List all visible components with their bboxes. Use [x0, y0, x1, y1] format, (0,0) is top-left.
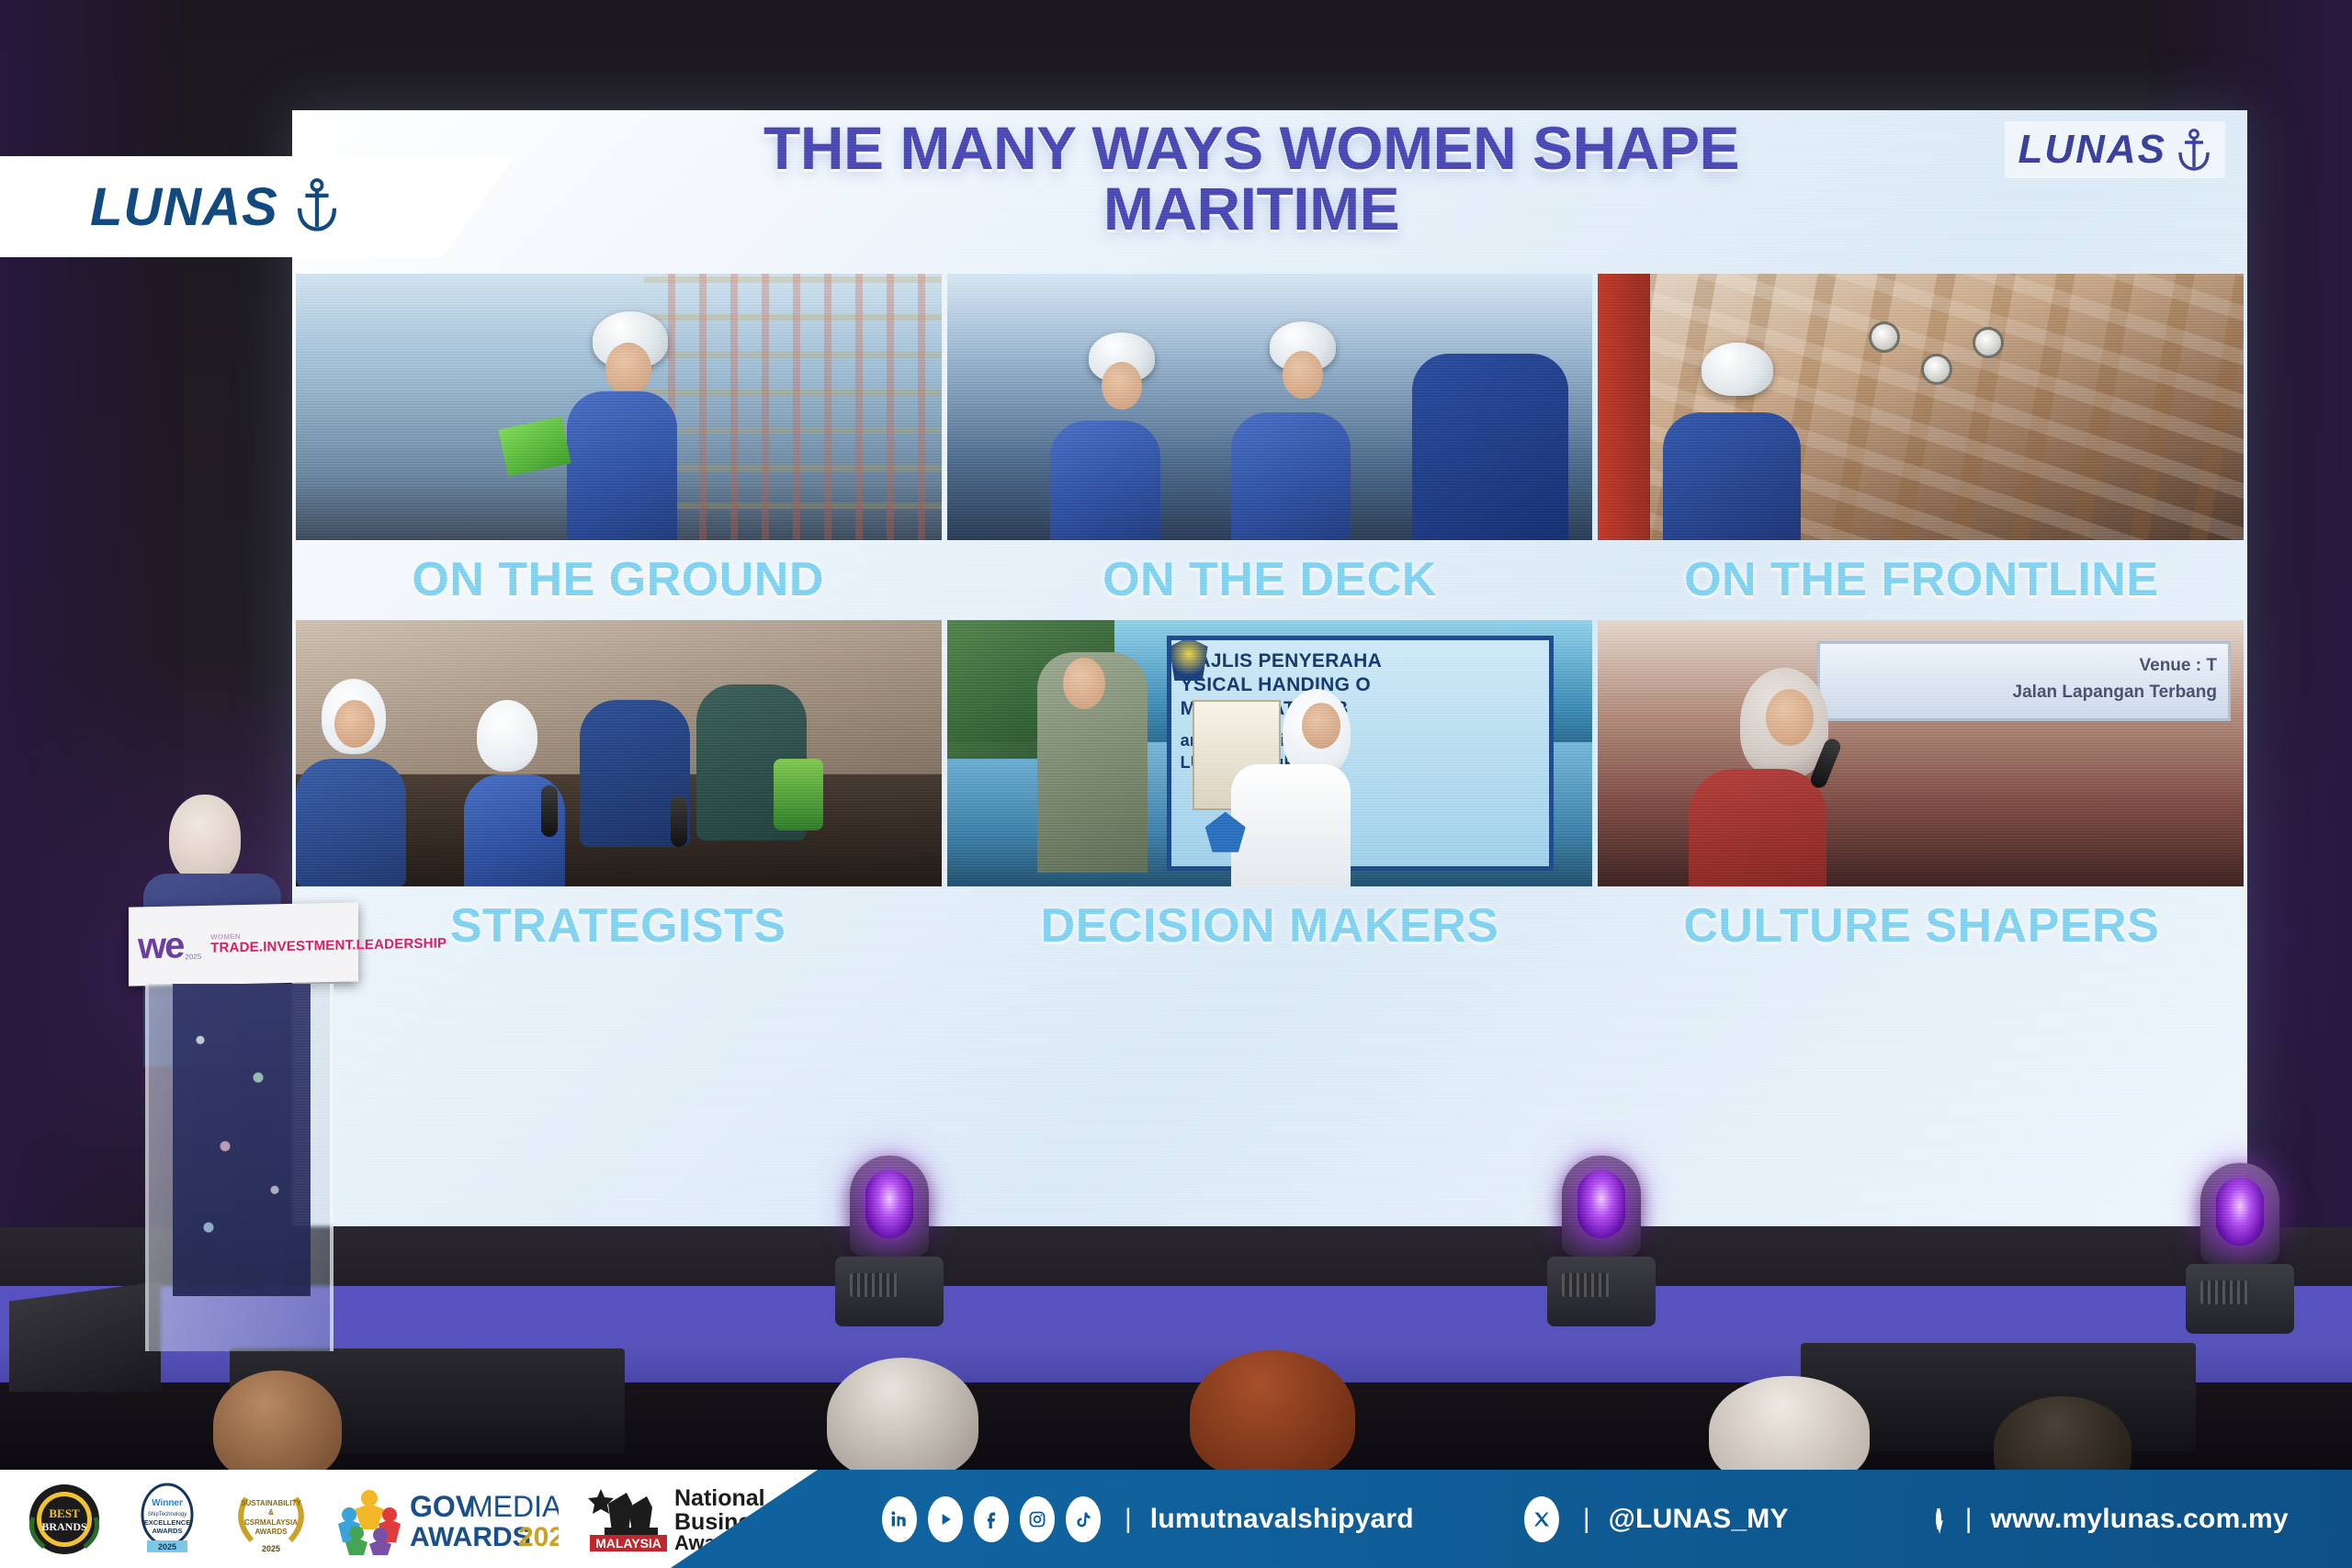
- slide-photo-culture-shapers: Venue : T Jalan Lapangan Terbang: [1598, 620, 2244, 886]
- moving-head-light-1: [850, 1156, 944, 1326]
- social-handle-x[interactable]: @LUNAS_MY: [1609, 1504, 1789, 1535]
- lunas-corner-logo-banner: LUNAS: [0, 156, 514, 257]
- podium-tagline: WOMEN TRADE.INVESTMENT.LEADERSHIP: [210, 929, 447, 956]
- svg-text:AWARDS: AWARDS: [254, 1528, 288, 1536]
- social-strip: | lumutnavalshipyard | @LUNAS_MY: [882, 1470, 2352, 1568]
- slide-title-line1: THE MANY WAYS WOMEN SHAPE: [763, 114, 1739, 182]
- slide-title-line2: MARITIME: [494, 178, 2008, 239]
- award-logo-gov-media-awards: GOV MEDIA AWARDS 2025: [338, 1483, 559, 1555]
- linkedin-icon[interactable]: [882, 1496, 917, 1542]
- audience-head-3: [1190, 1350, 1355, 1479]
- svg-text:&: &: [268, 1508, 274, 1517]
- svg-text:2025: 2025: [518, 1522, 559, 1552]
- led-presentation-screen: THE MANY WAYS WOMEN SHAPE MARITIME LUNAS: [292, 110, 2247, 1226]
- we-logo-text: we: [138, 930, 183, 962]
- slide-caption-row-1: ON THE GROUND ON THE DECK ON THE FRONTLI…: [292, 540, 2247, 619]
- award-badge-best-brands: BEST BRANDS: [26, 1481, 103, 1558]
- anchor-icon: [2176, 129, 2212, 171]
- svg-text:2025: 2025: [158, 1542, 176, 1551]
- venue-line1: Venue : T: [1831, 653, 2217, 680]
- podium-floral-panel: [173, 984, 311, 1296]
- tiktok-icon[interactable]: [1066, 1496, 1101, 1542]
- slide-lunas-wordmark: LUNAS: [2018, 127, 2166, 173]
- svg-text:SUSTAINABILITY: SUSTAINABILITY: [241, 1499, 301, 1507]
- social-separator-x: |: [1583, 1504, 1590, 1535]
- slide-photo-on-the-frontline: [1598, 274, 2244, 540]
- svg-text:CSRMALAYSIA: CSRMALAYSIA: [244, 1518, 298, 1527]
- social-separator-web: |: [1965, 1504, 1973, 1535]
- svg-text:National: National: [674, 1485, 765, 1511]
- youtube-icon[interactable]: [928, 1496, 963, 1542]
- slide-caption-on-the-ground: ON THE GROUND: [292, 552, 944, 607]
- venue-card: Venue : T Jalan Lapangan Terbang: [1817, 641, 2231, 721]
- audience-head-2: [827, 1358, 978, 1479]
- slide-photo-on-the-ground: [296, 274, 942, 540]
- slide-caption-on-the-frontline: ON THE FRONTLINE: [1596, 552, 2247, 607]
- svg-text:BEST: BEST: [49, 1506, 80, 1520]
- slide-header: THE MANY WAYS WOMEN SHAPE MARITIME: [292, 110, 2247, 274]
- slide-photo-row-bottom: MAJLIS PENYERAHA YSICAL HANDING O MBAT B…: [292, 620, 2247, 886]
- slide-photo-strategists: [296, 620, 942, 886]
- slide-photo-row-top: [292, 274, 2247, 540]
- svg-text:GOV: GOV: [410, 1490, 476, 1523]
- bottom-info-bar: BEST BRANDS Winner ShipTechnology EXCELL…: [0, 1470, 2352, 1568]
- svg-text:ShipTechnology: ShipTechnology: [148, 1512, 187, 1517]
- svg-text:2025: 2025: [262, 1544, 280, 1553]
- svg-text:EXCELLENCE: EXCELLENCE: [144, 1518, 190, 1527]
- slide-caption-on-the-deck: ON THE DECK: [944, 552, 1595, 607]
- award-badge-sustainability-csr-malaysia: SUSTAINABILITY & CSRMALAYSIA AWARDS 2025: [232, 1480, 311, 1559]
- ceremony-banner-line2: YSICAL HANDING O: [1181, 673, 1543, 697]
- ceremony-banner-line1: MAJLIS PENYERAHA: [1181, 649, 1543, 673]
- podium-body: [145, 984, 334, 1351]
- social-separator: |: [1125, 1504, 1132, 1535]
- slide-photo-on-the-deck: [947, 274, 1593, 540]
- slide-title: THE MANY WAYS WOMEN SHAPE MARITIME: [292, 118, 2247, 239]
- instagram-icon[interactable]: [1020, 1496, 1055, 1542]
- social-group-main[interactable]: | lumutnavalshipyard: [882, 1496, 1414, 1542]
- podium: we 2025 WOMEN TRADE.INVESTMENT.LEADERSHI…: [129, 905, 358, 1355]
- slide-photo-decision-makers: MAJLIS PENYERAHA YSICAL HANDING O MBAT B…: [947, 620, 1593, 886]
- award-badge-shiptechnology-excellence: Winner ShipTechnology EXCELLENCE AWARDS …: [130, 1480, 204, 1559]
- moving-head-light-2: [1562, 1156, 1656, 1326]
- svg-text:MEDIA: MEDIA: [469, 1490, 559, 1523]
- globe-cursor-icon[interactable]: [1936, 1511, 1941, 1528]
- svg-text:AWARDS: AWARDS: [153, 1527, 183, 1535]
- venue-line2: Jalan Lapangan Terbang: [1831, 680, 2217, 706]
- svg-text:Winner: Winner: [152, 1498, 183, 1508]
- ceremony-crest-icon: [1170, 637, 1208, 681]
- lunas-wordmark: LUNAS: [90, 176, 278, 238]
- facebook-icon[interactable]: [974, 1496, 1009, 1542]
- podium-header-panel: we 2025 WOMEN TRADE.INVESTMENT.LEADERSHI…: [129, 902, 358, 986]
- social-group-x[interactable]: | @LUNAS_MY: [1524, 1496, 1789, 1542]
- x-twitter-icon[interactable]: [1524, 1496, 1559, 1542]
- svg-text:MALAYSIA: MALAYSIA: [595, 1536, 661, 1551]
- website-url[interactable]: www.mylunas.com.my: [1990, 1504, 2288, 1535]
- svg-text:BRANDS: BRANDS: [41, 1520, 87, 1533]
- anchor-icon: [293, 178, 341, 236]
- screenshot-root: THE MANY WAYS WOMEN SHAPE MARITIME LUNAS: [0, 0, 2352, 1568]
- slide-caption-decision-makers: DECISION MAKERS: [944, 898, 1595, 953]
- moving-head-light-3: [2200, 1163, 2294, 1334]
- social-group-website[interactable]: | www.mylunas.com.my: [1936, 1504, 2289, 1535]
- we-logo-year: 2025: [185, 953, 201, 961]
- slide-caption-culture-shapers: CULTURE SHAPERS: [1596, 898, 2247, 953]
- we-forum-logo: we 2025: [138, 930, 201, 962]
- audience-head-1: [213, 1371, 342, 1481]
- slide-caption-row-2: STRATEGISTS DECISION MAKERS CULTURE SHAP…: [292, 886, 2247, 965]
- slide-lunas-logo: LUNAS: [2005, 121, 2225, 178]
- social-handle-main[interactable]: lumutnavalshipyard: [1150, 1504, 1414, 1535]
- svg-text:AWARDS: AWARDS: [410, 1522, 531, 1552]
